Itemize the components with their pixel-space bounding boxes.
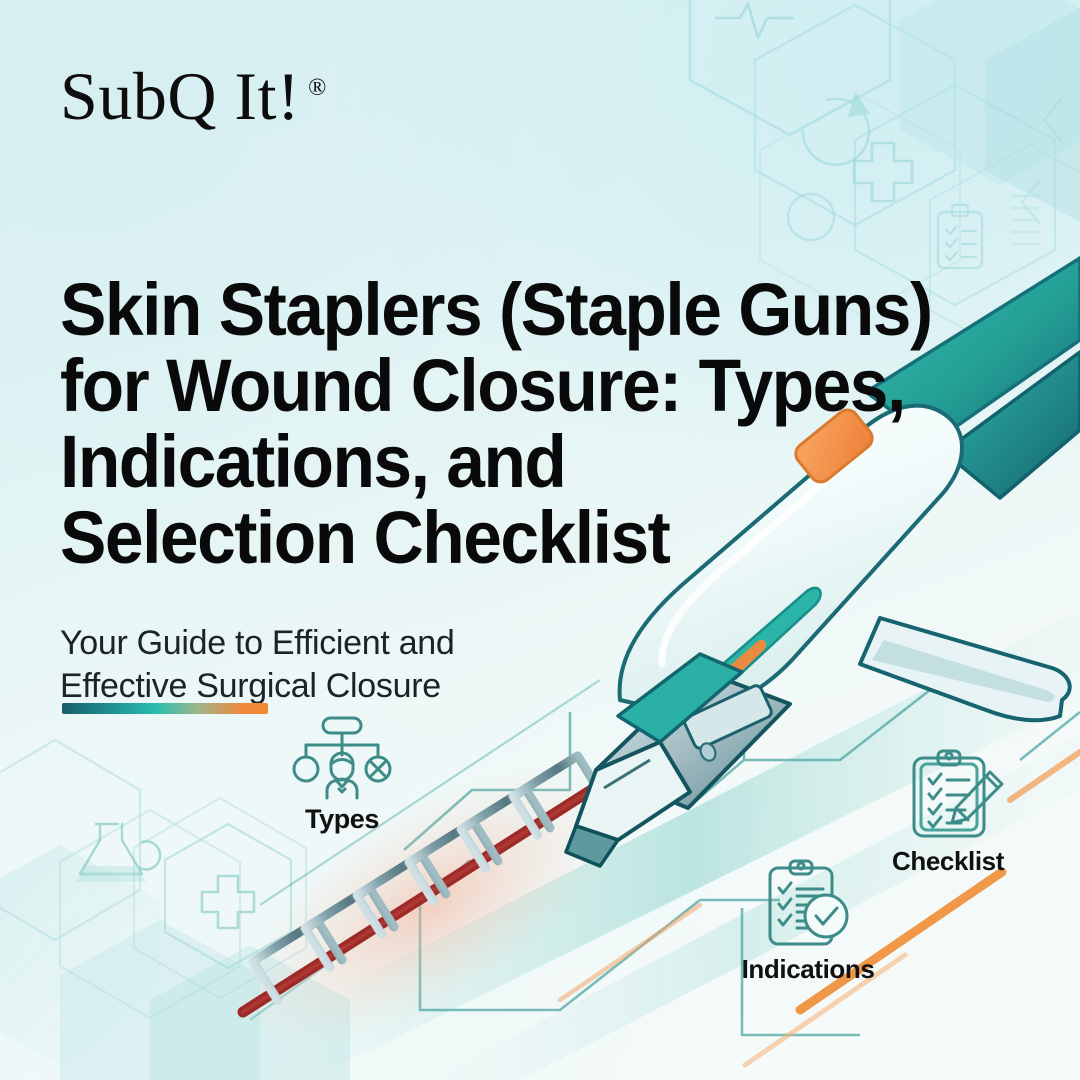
feature-label-checklist: Checklist <box>880 846 1016 877</box>
feature-item-indications[interactable]: Indications <box>730 858 886 985</box>
stapler-collar <box>618 654 742 742</box>
stapler-head-housing <box>596 670 790 808</box>
clipboard-icon-watermark <box>938 205 982 268</box>
wound-glow <box>197 711 662 1080</box>
stapler-anvil-inner-line <box>604 760 650 788</box>
brand-logo[interactable]: SubQ It!® <box>60 62 327 130</box>
staple <box>253 921 342 1000</box>
feature-item-checklist[interactable]: Checklist <box>880 748 1016 877</box>
gradient-accent-bar <box>62 703 268 714</box>
registered-trademark-symbol: ® <box>308 75 327 101</box>
tick-marks-decoration <box>1012 196 1038 244</box>
page-subtitle-line-1: Your Guide to Efficient and <box>60 622 620 665</box>
medical-cross-icon-small <box>854 143 912 201</box>
heartbeat-ecg-icon <box>716 4 793 38</box>
staple <box>409 822 498 901</box>
feature-item-types[interactable]: Types <box>283 716 401 835</box>
clipboard-check-circle-icon <box>730 858 886 950</box>
page-subtitle-line-2: Effective Surgical Closure <box>60 665 620 708</box>
stapler-anvil-tip <box>566 826 618 866</box>
clipboard-pencil-icon <box>880 748 1016 842</box>
stapler-head-indicator <box>698 741 718 763</box>
medical-cross-icon <box>165 824 291 968</box>
staple <box>357 855 446 934</box>
page-title-line-1: Skin Staplers (Staple Guns) <box>60 272 981 348</box>
rotate-arrow-icon <box>803 92 870 165</box>
staple <box>305 888 394 967</box>
org-chart-types-icon <box>283 716 401 800</box>
page-title: Skin Staplers (Staple Guns) for Wound Cl… <box>60 272 981 577</box>
feature-label-types: Types <box>283 804 401 835</box>
stapler-head-window <box>683 684 773 750</box>
stapler-grip-strip <box>723 588 821 678</box>
page-title-line-3: Indications, and <box>60 424 981 500</box>
chevron-decoration <box>1022 98 1062 224</box>
stapler-grip-strip-accent <box>718 640 766 686</box>
stapler-trigger-lever-shade <box>872 640 1055 702</box>
brand-logo-text: SubQ It! <box>60 58 300 134</box>
page-title-line-2: for Wound Closure: Types, <box>60 348 981 424</box>
stapler-anvil-nose <box>576 742 690 840</box>
staple <box>461 789 550 868</box>
poster-canvas: SubQ It!® Skin Staplers (Staple Guns) fo… <box>0 0 1080 1080</box>
page-subtitle: Your Guide to Efficient and Effective Su… <box>60 622 620 708</box>
page-title-line-4: Selection Checklist <box>60 500 981 576</box>
circle-outline-decoration <box>788 194 834 240</box>
lab-flask-icon <box>76 824 160 882</box>
stapler-trigger-lever <box>860 618 1070 720</box>
staple <box>513 756 602 835</box>
feature-label-indications: Indications <box>730 954 886 985</box>
